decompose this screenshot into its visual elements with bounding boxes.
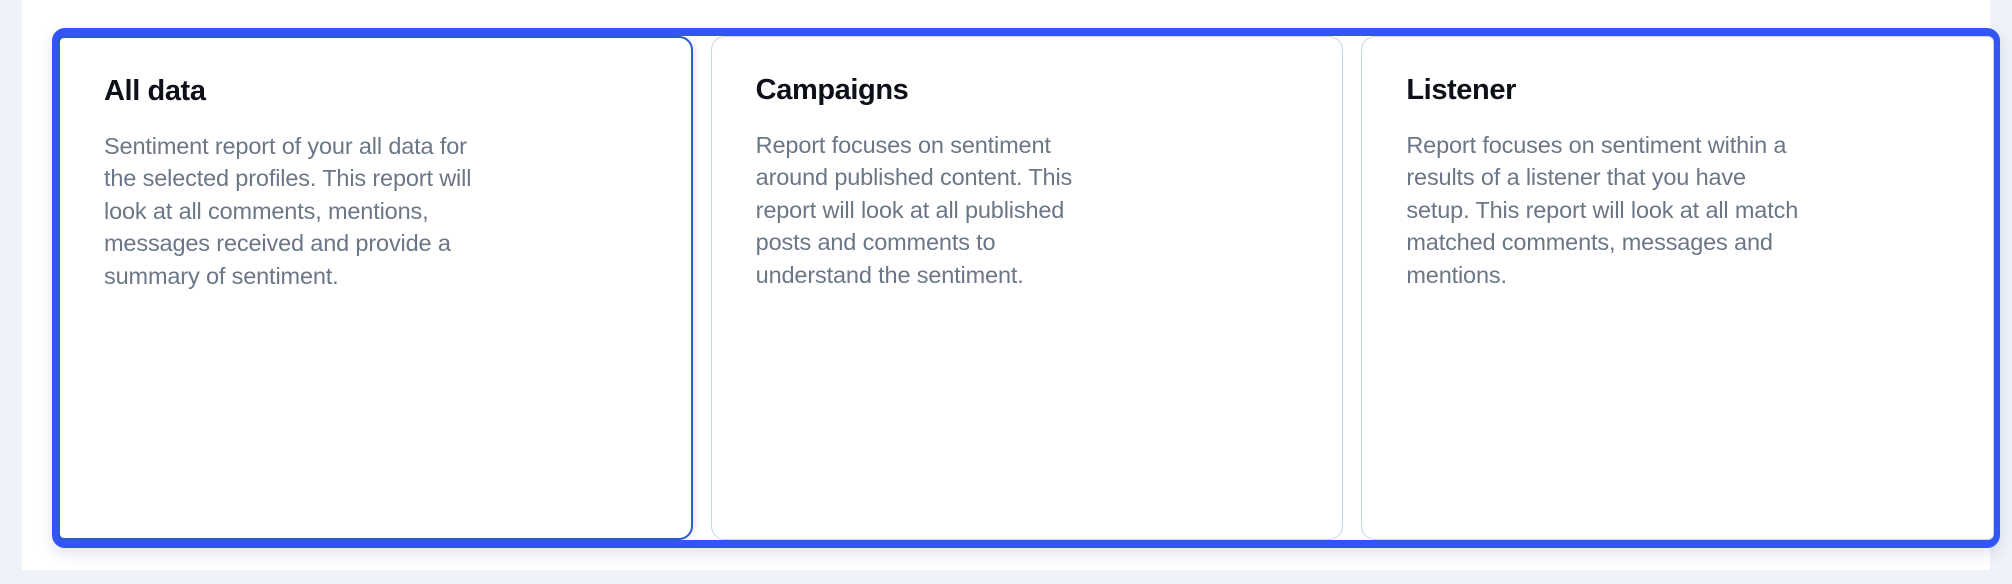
- report-type-card-campaigns[interactable]: Campaigns Report focuses on sentiment ar…: [711, 36, 1344, 540]
- card-title: All data: [104, 76, 647, 108]
- report-type-card-list: All data Sentiment report of your all da…: [60, 36, 1992, 540]
- report-type-selection-frame: All data Sentiment report of your all da…: [52, 28, 2000, 548]
- page-surface: All data Sentiment report of your all da…: [22, 0, 1990, 570]
- card-title: Campaigns: [756, 75, 1299, 107]
- report-type-card-listener[interactable]: Listener Report focuses on sentiment wit…: [1361, 36, 1994, 540]
- report-type-card-all-data[interactable]: All data Sentiment report of your all da…: [58, 36, 693, 540]
- card-title: Listener: [1406, 75, 1949, 107]
- card-description: Report focuses on sentiment around publi…: [756, 129, 1108, 292]
- card-description: Report focuses on sentiment within a res…: [1406, 129, 1806, 292]
- card-description: Sentiment report of your all data for th…: [104, 130, 494, 293]
